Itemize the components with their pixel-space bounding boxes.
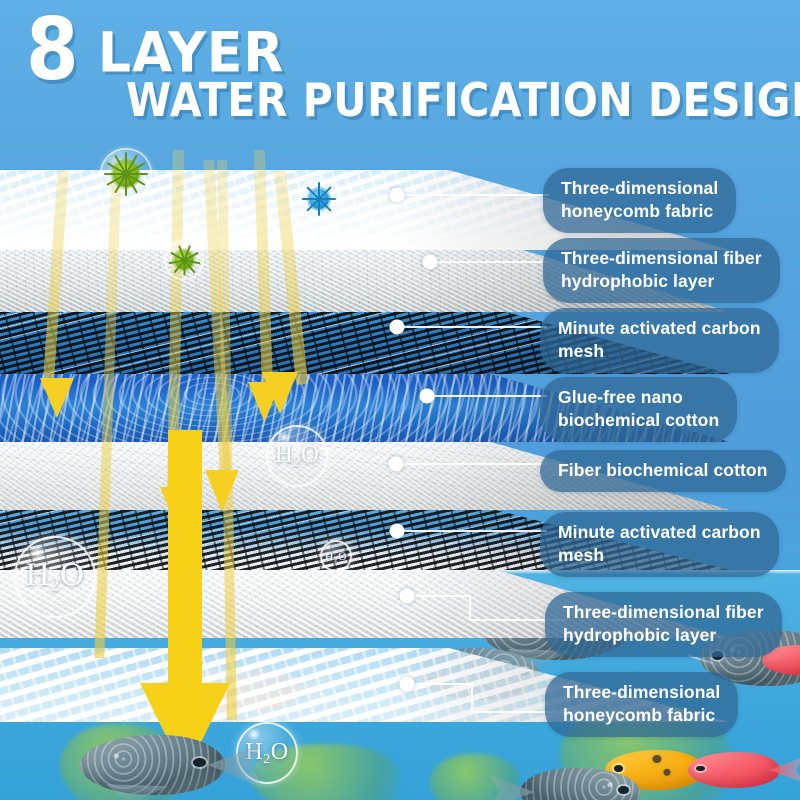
connector-dot-1 <box>390 188 405 203</box>
virus-icon <box>113 161 139 187</box>
germ-bubble-blue-right <box>298 178 340 220</box>
germ-bubble-green-mid <box>164 240 204 280</box>
label-layer-8[interactable]: Three-dimensional honeycomb fabric <box>545 672 738 737</box>
h2o-text: H2O <box>325 549 347 564</box>
label-layer-4[interactable]: Glue-free nano biochemical cotton <box>540 377 737 442</box>
h2o-text: H2O <box>275 441 320 471</box>
infographic-stage: H2O H2O H2O H2O <box>0 0 800 800</box>
h2o-bubble-left-large: H2O <box>14 536 96 618</box>
arrow-shaft <box>168 430 202 690</box>
label-layer-3[interactable]: Minute activated carbon mesh <box>540 308 779 373</box>
h2o-text: H2O <box>26 557 85 596</box>
germ-bubble-green-top <box>100 148 152 200</box>
virus-icon <box>175 251 194 270</box>
label-layer-7[interactable]: Three-dimensional fiber hydrophobic laye… <box>545 592 782 657</box>
label-layer-2[interactable]: Three-dimensional fiber hydrophobic laye… <box>543 238 780 303</box>
virus-spikes <box>168 244 200 276</box>
connector-dot-8 <box>400 677 415 692</box>
arrow-head <box>140 683 230 775</box>
connector-dot-5 <box>389 457 404 472</box>
title-number-8: 8 <box>26 14 77 88</box>
label-layer-1[interactable]: Three-dimensional honeycomb fabric <box>543 168 736 233</box>
connector-dot-6 <box>390 524 405 539</box>
title-word-layer: LAYER <box>98 28 285 80</box>
connector-dot-3 <box>390 320 405 335</box>
connector-dot-7 <box>400 589 415 604</box>
label-layer-6[interactable]: Minute activated carbon mesh <box>540 512 779 577</box>
connector-dot-2 <box>423 255 438 270</box>
title-subtitle: WATER PURIFICATION DESIGN <box>126 78 800 124</box>
h2o-bubble-bottom: H2O <box>236 722 298 784</box>
main-flow-arrow <box>140 430 230 775</box>
h2o-text: H2O <box>245 739 288 768</box>
h2o-bubble-mid: H2O <box>266 425 328 487</box>
label-layer-5[interactable]: Fiber biochemical cotton <box>540 450 786 492</box>
virus-spikes <box>104 152 148 196</box>
h2o-bubble-small: H2O <box>320 540 352 572</box>
virus-icon <box>309 189 329 209</box>
virus-spikes <box>302 182 336 216</box>
aquatic-plant <box>430 754 520 800</box>
connector-dot-4 <box>420 389 435 404</box>
page-title: 8 LAYER WATER PURIFICATION DESIGN <box>0 0 800 140</box>
